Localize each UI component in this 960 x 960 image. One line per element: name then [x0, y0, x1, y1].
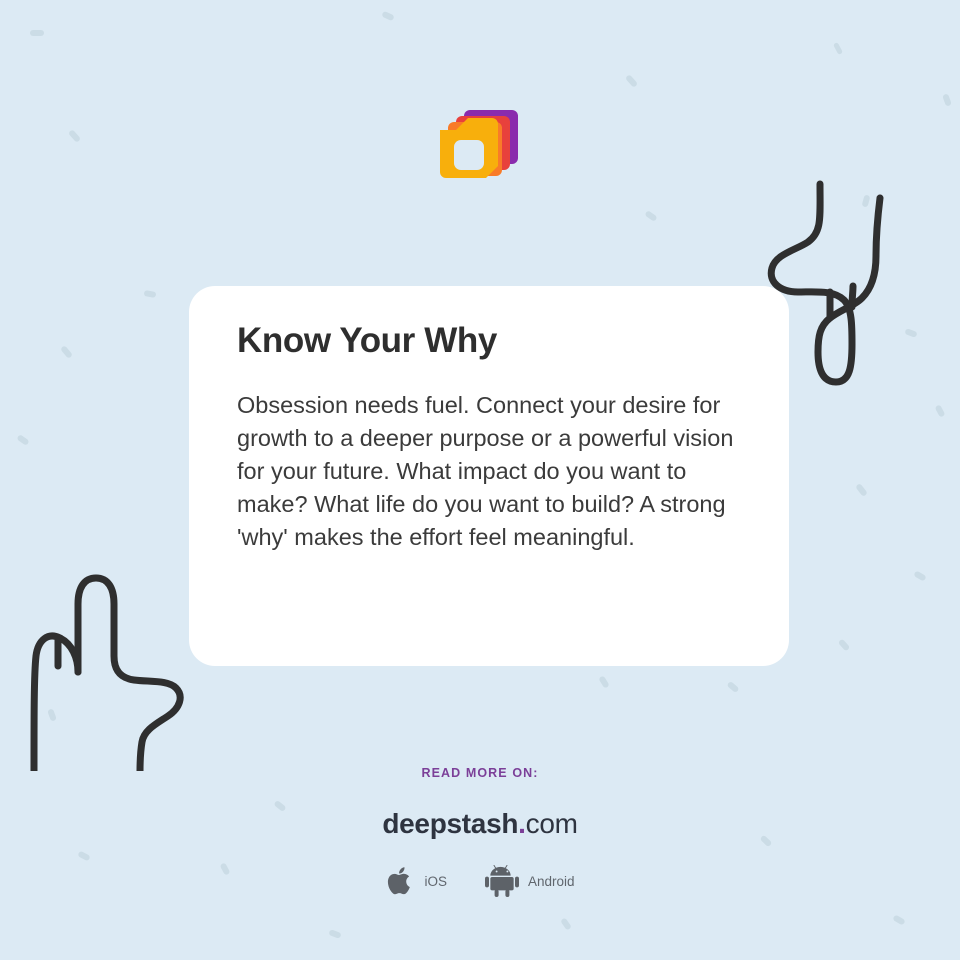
confetti-speck — [726, 681, 739, 693]
confetti-speck — [855, 483, 868, 497]
confetti-speck — [904, 328, 917, 338]
confetti-speck — [47, 708, 57, 721]
store-badge-ios[interactable]: iOS — [385, 864, 447, 898]
brand-name: deepstash — [382, 808, 518, 839]
brand-wordmark[interactable]: deepstash.com — [0, 808, 960, 840]
confetti-speck — [560, 917, 572, 930]
store-badges: iOS Android — [0, 864, 960, 898]
read-more-label: READ MORE ON: — [0, 766, 960, 780]
footer: READ MORE ON: deepstash.com iOS — [0, 766, 960, 898]
confetti-speck — [144, 290, 157, 298]
hand-pointing-up-icon — [22, 556, 202, 776]
card-body-text: Obsession needs fuel. Connect your desir… — [237, 389, 741, 554]
confetti-speck — [838, 639, 850, 652]
confetti-speck — [60, 345, 73, 359]
card-title: Know Your Why — [237, 322, 741, 361]
confetti-speck — [16, 434, 29, 446]
apple-icon — [385, 864, 415, 898]
confetti-speck — [328, 929, 341, 939]
idea-card: Know Your Why Obsession needs fuel. Conn… — [189, 286, 789, 666]
store-badge-android[interactable]: Android — [485, 865, 575, 897]
confetti-speck — [598, 675, 609, 688]
confetti-speck — [30, 30, 44, 36]
android-icon — [485, 865, 519, 897]
deepstash-logo — [0, 102, 960, 198]
confetti-speck — [935, 404, 946, 417]
confetti-speck — [892, 914, 905, 925]
logo-inner-cutout — [454, 140, 484, 170]
confetti-speck — [625, 74, 638, 88]
store-label-android: Android — [528, 874, 575, 889]
brand-dot: . — [518, 808, 525, 839]
brand-tld: com — [526, 808, 578, 839]
store-label-ios: iOS — [424, 874, 447, 889]
confetti-speck — [381, 11, 394, 22]
confetti-speck — [913, 570, 926, 581]
confetti-speck — [644, 210, 657, 222]
confetti-speck — [833, 42, 843, 55]
